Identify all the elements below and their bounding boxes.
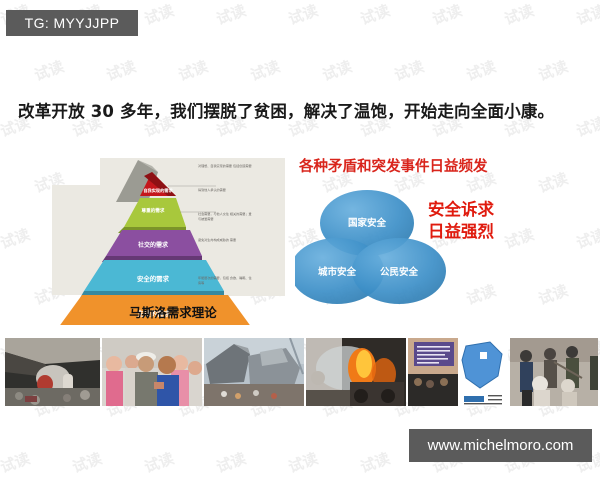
- photo-train-derailment-wreckage: [204, 338, 304, 406]
- pyramid-caption: 马斯洛需求理论: [98, 302, 248, 321]
- watermark-text: 试读: [285, 448, 320, 478]
- circles-side-text: 安全诉求 日益强烈: [428, 199, 494, 243]
- circles-title: 各种矛盾和突发事件日益频发: [299, 155, 488, 176]
- watermark-text: 试读: [357, 448, 392, 478]
- pyramid-desc-2: 得到他人承认的需要: [198, 188, 254, 193]
- circles-side-text-line2: 日益强烈: [428, 221, 494, 243]
- watermark-text: 试读: [463, 56, 498, 86]
- photo-earthquake-rubble-rescue: [5, 338, 100, 406]
- watermark-text: 试读: [213, 0, 248, 29]
- watermark-text: 试读: [103, 56, 138, 86]
- circle-label-city: 城市安全: [318, 266, 357, 278]
- photo-news-map-infographic: [408, 338, 508, 406]
- pyramid-desc-3: 社会需要，与他人交往 相关的需要；爱与被爱需要: [198, 212, 254, 221]
- pyramid-desc-5: 年能层次的需要，包括 食欲、睡眠、住房等: [198, 276, 254, 285]
- watermark-text: 试读: [357, 0, 392, 29]
- venn-circles-graphic: 国家安全 城市安全 公民安全: [295, 175, 495, 320]
- circle-label-national: 国家安全: [348, 217, 387, 229]
- watermark-text: 试读: [69, 448, 104, 478]
- watermark-text: 试读: [247, 56, 282, 86]
- watermark-text: 试读: [0, 448, 33, 478]
- pyramid-desc-1: 对理想、自我实现的需要 包括创造需要: [198, 164, 254, 169]
- security-circles-figure: 各种矛盾和突发事件日益频发 国家安全 城市安全 公民安全 安全诉求 日益强烈: [295, 155, 590, 315]
- watermark-text: 试读: [285, 0, 320, 29]
- watermark-text: 试读: [213, 448, 248, 478]
- photo-soldier-carrying-child: [102, 338, 202, 406]
- watermark-text: 试读: [31, 56, 66, 86]
- watermark-text: 试读: [141, 0, 176, 29]
- maslow-pyramid-figure: 自我实现的需求 尊重的需求 社交的需求 安全的需求 生理的需求 对理想、自我实现…: [40, 150, 290, 325]
- photo-street-confrontation: [510, 338, 598, 406]
- watermark-text: 试读: [429, 0, 464, 29]
- tg-banner: TG: MYYJJPP: [6, 10, 138, 36]
- pyramid-desc-4: 避免对生命构成威胁的 需要: [198, 238, 254, 243]
- watermark-text: 试读: [535, 56, 570, 86]
- site-url-banner: www.michelmoro.com: [409, 429, 592, 462]
- watermark-text: 试读: [501, 0, 536, 29]
- watermark-text: 试读: [573, 0, 600, 29]
- watermark-text: 试读: [319, 56, 354, 86]
- watermark-text: 试读: [391, 56, 426, 86]
- page-title: 改革开放 30 多年，我们摆脱了贫困，解决了温饱，开始走向全面小康。: [18, 98, 588, 122]
- watermark-text: 试读: [141, 448, 176, 478]
- photo-strip: [0, 338, 600, 406]
- circle-label-citizen: 公民安全: [380, 266, 419, 278]
- watermark-text: 试读: [0, 224, 33, 254]
- watermark-text: 试读: [175, 56, 210, 86]
- circles-side-text-line1: 安全诉求: [428, 199, 494, 221]
- photo-burning-vehicle-firefight: [306, 338, 406, 406]
- slide-canvas: 试读试读试读试读试读试读试读试读试读试读试读试读试读试读试读试读试读试读试读试读…: [0, 0, 600, 480]
